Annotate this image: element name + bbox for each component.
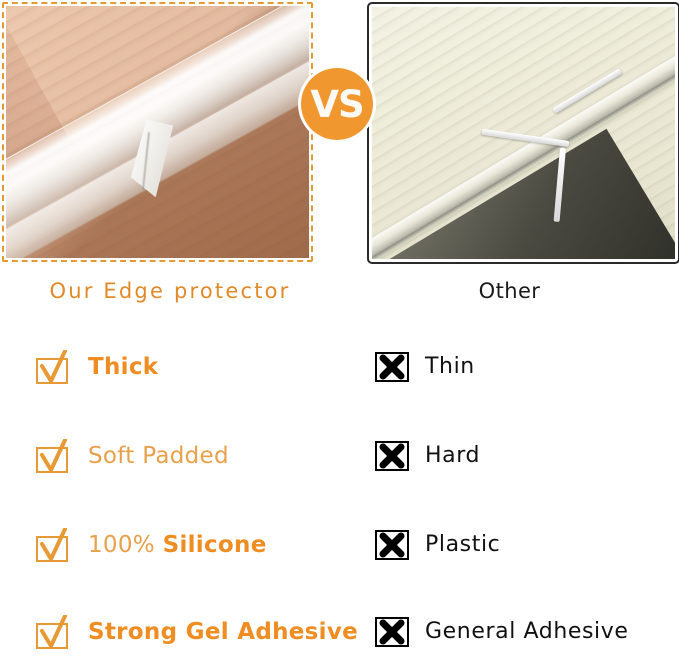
feature-label-positive: Strong Gel Adhesive <box>88 618 358 646</box>
feature-cell-negative: Hard <box>375 431 480 481</box>
feature-cell-positive: Strong Gel Adhesive <box>36 607 358 657</box>
photo-our-product-inner <box>6 6 309 258</box>
check-mark <box>36 615 72 649</box>
check-mark <box>36 439 72 473</box>
checkbox-checked-icon <box>36 350 72 384</box>
photo-other-product-inner <box>372 7 675 259</box>
feature-label-negative: General Adhesive <box>425 618 629 646</box>
photo-other-product <box>367 2 679 264</box>
feature-cell-negative: General Adhesive <box>375 607 629 657</box>
feature-label-positive-main: Soft Padded <box>88 443 229 469</box>
feature-label-positive-main: Thick <box>88 354 158 380</box>
checkbox-crossed-icon <box>375 530 409 560</box>
photo-our-product <box>2 2 313 262</box>
checkbox-checked-icon <box>36 439 72 473</box>
feature-label-positive: Thick <box>88 353 158 381</box>
check-mark <box>36 528 72 562</box>
checkbox-crossed-icon <box>375 441 409 471</box>
feature-comparison-list: Thick Thin Soft Padded <box>0 330 679 643</box>
checkbox-checked-icon <box>36 615 72 649</box>
feature-cell-positive: 100% Silicone <box>36 520 267 570</box>
check-mark <box>36 350 72 384</box>
feature-label-positive: 100% Silicone <box>88 531 267 559</box>
vs-badge: VS <box>301 68 373 140</box>
feature-cell-positive: Thick <box>36 342 158 392</box>
feature-label-negative: Thin <box>425 353 475 381</box>
feature-cell-negative: Plastic <box>375 520 500 570</box>
feature-label-positive-main: Silicone <box>163 532 267 558</box>
feature-row: Soft Padded Hard <box>0 431 679 481</box>
feature-label-negative: Plastic <box>425 531 500 559</box>
feature-row: 100% Silicone Plastic <box>0 520 679 570</box>
feature-label-positive: Soft Padded <box>88 442 229 470</box>
feature-cell-negative: Thin <box>375 342 475 392</box>
header-our-product: Our Edge protector <box>0 276 340 306</box>
feature-cell-positive: Soft Padded <box>36 431 229 481</box>
x-mark <box>375 352 409 382</box>
checkbox-crossed-icon <box>375 352 409 382</box>
feature-row: Thick Thin <box>0 342 679 392</box>
feature-row: Strong Gel Adhesive General Adhesive <box>0 607 679 657</box>
header-other: Other <box>340 276 679 306</box>
x-mark <box>375 530 409 560</box>
comparison-photo-row: VS <box>0 0 679 262</box>
column-headers: Our Edge protector Other <box>0 276 679 310</box>
feature-label-positive-main: Strong Gel Adhesive <box>88 619 358 645</box>
x-mark <box>375 441 409 471</box>
feature-label-negative: Hard <box>425 442 480 470</box>
feature-label-positive-prefix: 100% <box>88 532 163 558</box>
vs-badge-label: VS <box>310 86 363 123</box>
checkbox-checked-icon <box>36 528 72 562</box>
